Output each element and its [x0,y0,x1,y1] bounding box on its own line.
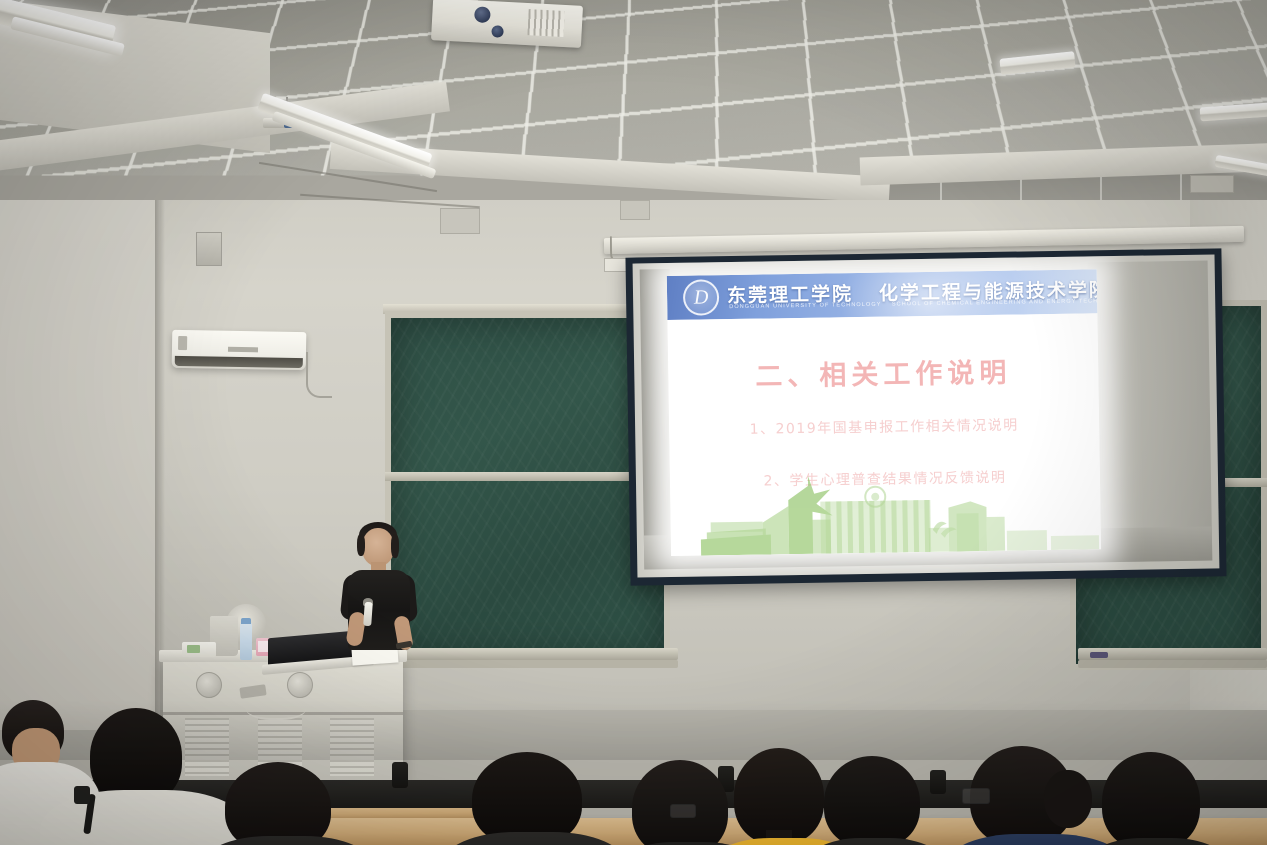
presenter [338,520,418,670]
air-conditioner-vent [175,356,303,368]
wall-junction-box [196,232,222,266]
slide-banner-university-en: DONGGUAN UNIVERSITY OF TECHNOLOGY [729,302,881,310]
audience-member [808,756,938,845]
left-wall-face [0,110,160,730]
wall-access-plate [440,208,480,234]
slide-title: 二、相关工作说明 [668,349,1099,395]
audience-lanyard-badge [74,786,90,804]
audience-hair-bun [1044,770,1092,828]
air-conditioner [172,330,307,370]
projector-lens [474,6,491,23]
slide-bullet-1: 1、2019年国基申报工作相关情况说明 [669,413,1099,440]
chalk-stick [1090,652,1108,658]
screen-bottom-bar [640,574,1220,577]
tissue-packet-accent [187,645,200,653]
glasses-icon [670,804,696,818]
audience-body [1086,838,1228,845]
projected-slide: D 东莞理工学院 化学工程与能源技术学院 DONGGUAN UNIVERSITY… [667,269,1101,556]
screen-unlit-area [1088,261,1213,563]
wall-access-plate [620,200,650,220]
chalkboard-divider [385,472,670,481]
audience-hair [1102,752,1200,845]
audience-member [1096,752,1216,845]
slide-banner-school-en: SCHOOL OF CHEMICAL ENGINEERING AND ENERG… [892,298,1098,308]
audience-member [448,752,618,845]
audience-hair [824,756,920,845]
audience-body [804,838,946,845]
chair-back [392,762,408,788]
water-bottle [240,622,252,660]
projector-vent [527,9,564,37]
air-conditioner-logo [228,347,258,353]
water-bottle-cap [241,618,251,624]
audience-hair [632,760,728,845]
air-conditioner-cable [306,352,332,398]
air-conditioner-display [178,336,187,350]
slide-body: 二、相关工作说明 1、2019年国基申报工作相关情况说明 2、学生心理普查结果情… [667,313,1101,556]
audience-member [960,742,1110,845]
presenter-head [362,528,394,566]
lectern-speaker-grille [196,672,222,698]
audience-body [442,832,626,845]
chalk-tray-lip [1078,660,1267,668]
projection-screen: D 东莞理工学院 化学工程与能源技术学院 DONGGUAN UNIVERSITY… [625,248,1226,585]
university-emblem-letter: D [694,286,709,309]
glasses-icon [962,788,990,804]
wall-column-shadow [155,150,165,730]
presenter-hair-side [391,534,399,558]
lecture-hall-photo: D 东莞理工学院 化学工程与能源技术学院 DONGGUAN UNIVERSITY… [0,0,1267,845]
chalk-tray [383,648,678,660]
chalk-residue [391,318,664,656]
slide-banner: D 东莞理工学院 化学工程与能源技术学院 DONGGUAN UNIVERSITY… [667,269,1098,320]
university-emblem-icon: D [683,279,720,316]
presenter-hair-side [357,534,365,556]
audience-hair [225,762,331,845]
suspended-ceiling [0,0,1267,200]
microphone [363,602,373,626]
projector [431,0,583,48]
wall-access-plate [1190,175,1234,193]
audience-member [205,762,365,845]
audience-member [50,708,230,845]
projection-screen-surface: D 东莞理工学院 化学工程与能源技术学院 DONGGUAN UNIVERSITY… [633,254,1220,577]
projector-focus-knob [491,25,504,38]
audience-body [199,836,375,845]
chalk-tray-lip [383,660,678,668]
campus-skyline-graphic [670,471,1101,556]
